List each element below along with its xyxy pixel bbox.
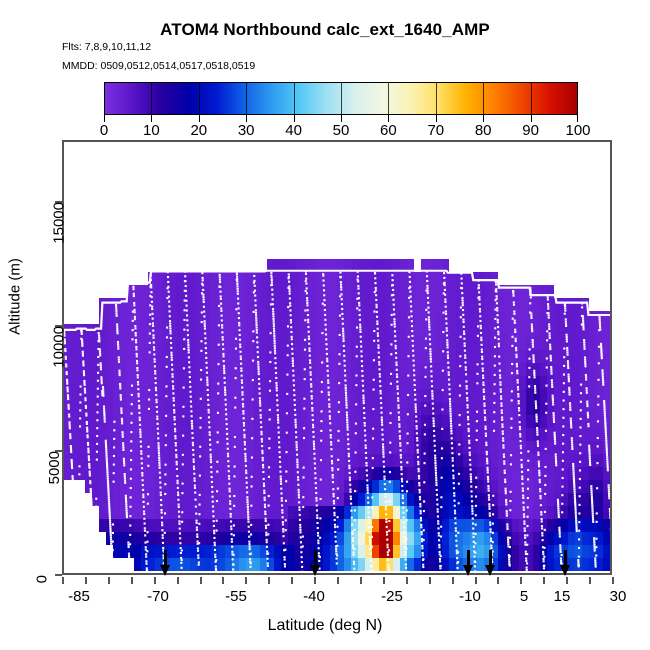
colorbar-separator — [436, 82, 437, 115]
latitude-marker-arrow — [463, 550, 474, 576]
colorbar-tick — [294, 115, 295, 122]
x-axis-tick — [360, 577, 362, 584]
latitude-marker-arrow — [485, 550, 496, 576]
y-axis-tick-label: 15000 — [50, 202, 67, 244]
colorbar-tick — [483, 115, 484, 122]
x-axis-tick — [612, 577, 614, 584]
plot-area — [62, 140, 612, 575]
y-axis-tick-label: 0 — [34, 575, 51, 583]
x-axis-tick — [131, 577, 133, 584]
x-axis-tick — [200, 577, 202, 584]
x-axis-tick — [406, 577, 408, 584]
colorbar-separator — [294, 82, 295, 115]
x-axis-tick — [62, 577, 64, 584]
x-axis-tick — [314, 577, 316, 584]
x-axis-tick-label: 30 — [583, 588, 650, 605]
figure-root: ATOM4 Northbound calc_ext_1640_AMP Flts:… — [0, 0, 650, 650]
colorbar-tick — [199, 115, 200, 122]
x-axis-tick — [245, 577, 247, 584]
colorbar-tick — [436, 115, 437, 122]
y-axis-title: Altitude (m) — [7, 97, 24, 497]
colorbar-ticks — [104, 115, 578, 122]
x-axis-tick — [337, 577, 339, 584]
x-axis-tick-label: -25 — [357, 588, 427, 605]
x-axis-tick — [543, 577, 545, 584]
colorbar-separator — [341, 82, 342, 115]
colorbar-separator — [199, 82, 200, 115]
colorbar-tick — [531, 115, 532, 122]
colorbar-separator — [531, 82, 532, 115]
colorbar-tick-label: 100 — [538, 122, 618, 139]
x-axis-tick — [475, 577, 477, 584]
x-axis-tick-label: -85 — [44, 588, 114, 605]
x-axis-tick — [108, 577, 110, 584]
x-axis-tick — [177, 577, 179, 584]
x-axis-tick-label: -40 — [279, 588, 349, 605]
x-axis-tick-label: -55 — [201, 588, 271, 605]
colorbar-tick — [341, 115, 342, 122]
colorbar-tick — [246, 115, 247, 122]
colorbar: 0102030405060708090100 — [104, 82, 578, 115]
x-axis-tick-label: -70 — [123, 588, 193, 605]
x-axis-title: Latitude (deg N) — [0, 617, 650, 635]
colorbar-separator — [388, 82, 389, 115]
x-axis-tick — [520, 577, 522, 584]
heatmap-canvas-holder — [64, 142, 610, 573]
colorbar-tick — [577, 115, 578, 122]
x-axis-tick — [222, 577, 224, 584]
dates-annotation: MMDD: 0509,0512,0514,0517,0518,0519 — [62, 60, 255, 72]
x-axis-tick — [589, 577, 591, 584]
colorbar-separator — [483, 82, 484, 115]
x-axis-tick — [291, 577, 293, 584]
colorbar-tick — [151, 115, 152, 122]
latitude-marker-arrow — [160, 550, 171, 576]
x-axis-tick — [154, 577, 156, 584]
colorbar-tick-labels: 0102030405060708090100 — [64, 122, 618, 142]
x-axis-tick — [566, 577, 568, 584]
x-axis-tick — [383, 577, 385, 584]
heatmap-image — [64, 142, 612, 575]
y-axis-tick-label: 10000 — [50, 326, 67, 368]
x-axis-tick — [85, 577, 87, 584]
colorbar-tick — [388, 115, 389, 122]
colorbar-separator — [246, 82, 247, 115]
x-axis-tick — [452, 577, 454, 584]
page-title: ATOM4 Northbound calc_ext_1640_AMP — [0, 20, 650, 40]
flights-annotation: Flts: 7,8,9,10,11,12 — [62, 41, 151, 53]
x-axis-tick — [268, 577, 270, 584]
colorbar-tick — [104, 115, 105, 122]
x-axis-tick — [429, 577, 431, 584]
colorbar-separators — [104, 82, 578, 115]
x-axis-tick — [497, 577, 499, 584]
latitude-marker-arrow — [560, 550, 571, 576]
y-axis-tick-label: 5000 — [46, 451, 63, 484]
y-axis-tick — [55, 574, 62, 576]
colorbar-separator — [151, 82, 152, 115]
latitude-marker-arrow — [310, 550, 321, 576]
